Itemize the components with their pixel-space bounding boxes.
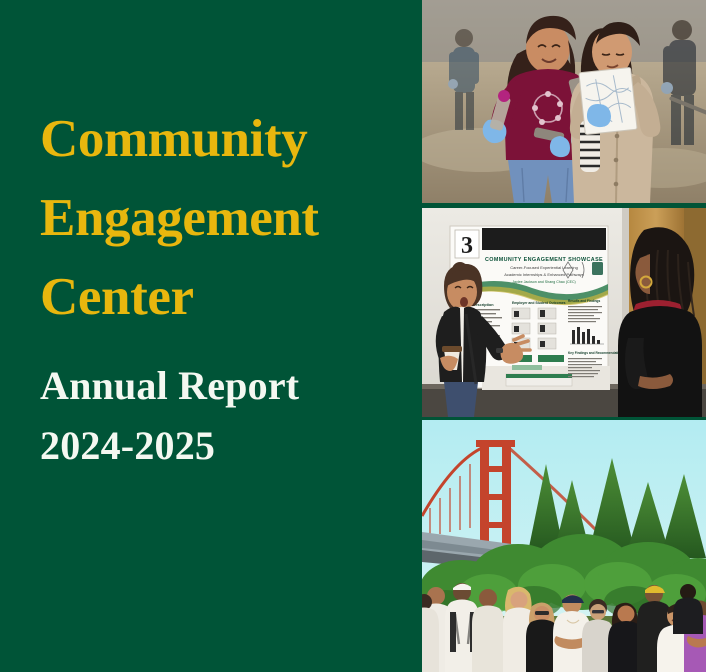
title-line-community: Community [40, 100, 410, 179]
svg-text:Jaylee Jackson and Shang Chao: Jaylee Jackson and Shang Chao (CEC) [512, 280, 576, 284]
svg-text:COMMUNITY ENGAGEMENT SHOWCASE: COMMUNITY ENGAGEMENT SHOWCASE [485, 257, 603, 263]
svg-text:Academic Internships & Enhance: Academic Internships & Enhanced Pathways [504, 272, 584, 277]
report-cover: Community Engagement Center Annual Repor… [0, 0, 706, 672]
report-label: Annual Report [40, 356, 410, 416]
svg-text:Key Findings and Recommendatio: Key Findings and Recommendations [568, 351, 624, 355]
title-line-center: Center [40, 258, 410, 337]
field-research-illustration [422, 0, 706, 203]
showcase-poster-photo: 3 COMMUNITY ENGAGEMENT SHOWCASE Career-F… [422, 208, 706, 417]
title-panel: Community Engagement Center Annual Repor… [0, 0, 422, 672]
showcase-illustration: 3 COMMUNITY ENGAGEMENT SHOWCASE Career-F… [422, 208, 706, 417]
field-research-photo: Two students in blue gloves examining wa… [422, 0, 706, 203]
group-bridge-photo: Large group of students posing in front … [422, 420, 706, 672]
group-bridge-illustration [422, 420, 706, 672]
organization-title: Community Engagement Center [40, 100, 410, 337]
photo-column: Two students in blue gloves examining wa… [422, 0, 706, 672]
title-line-engagement: Engagement [40, 179, 410, 258]
svg-text:Career-Focused Experiential Le: Career-Focused Experiential Learning [510, 265, 578, 270]
report-subtitle: Annual Report 2024-2025 [40, 356, 410, 476]
svg-text:Results and Findings: Results and Findings [568, 299, 600, 303]
svg-text:3: 3 [461, 233, 473, 259]
report-year-range: 2024-2025 [40, 416, 410, 476]
svg-text:Employer and Student Outcomes: Employer and Student Outcomes [512, 301, 566, 305]
